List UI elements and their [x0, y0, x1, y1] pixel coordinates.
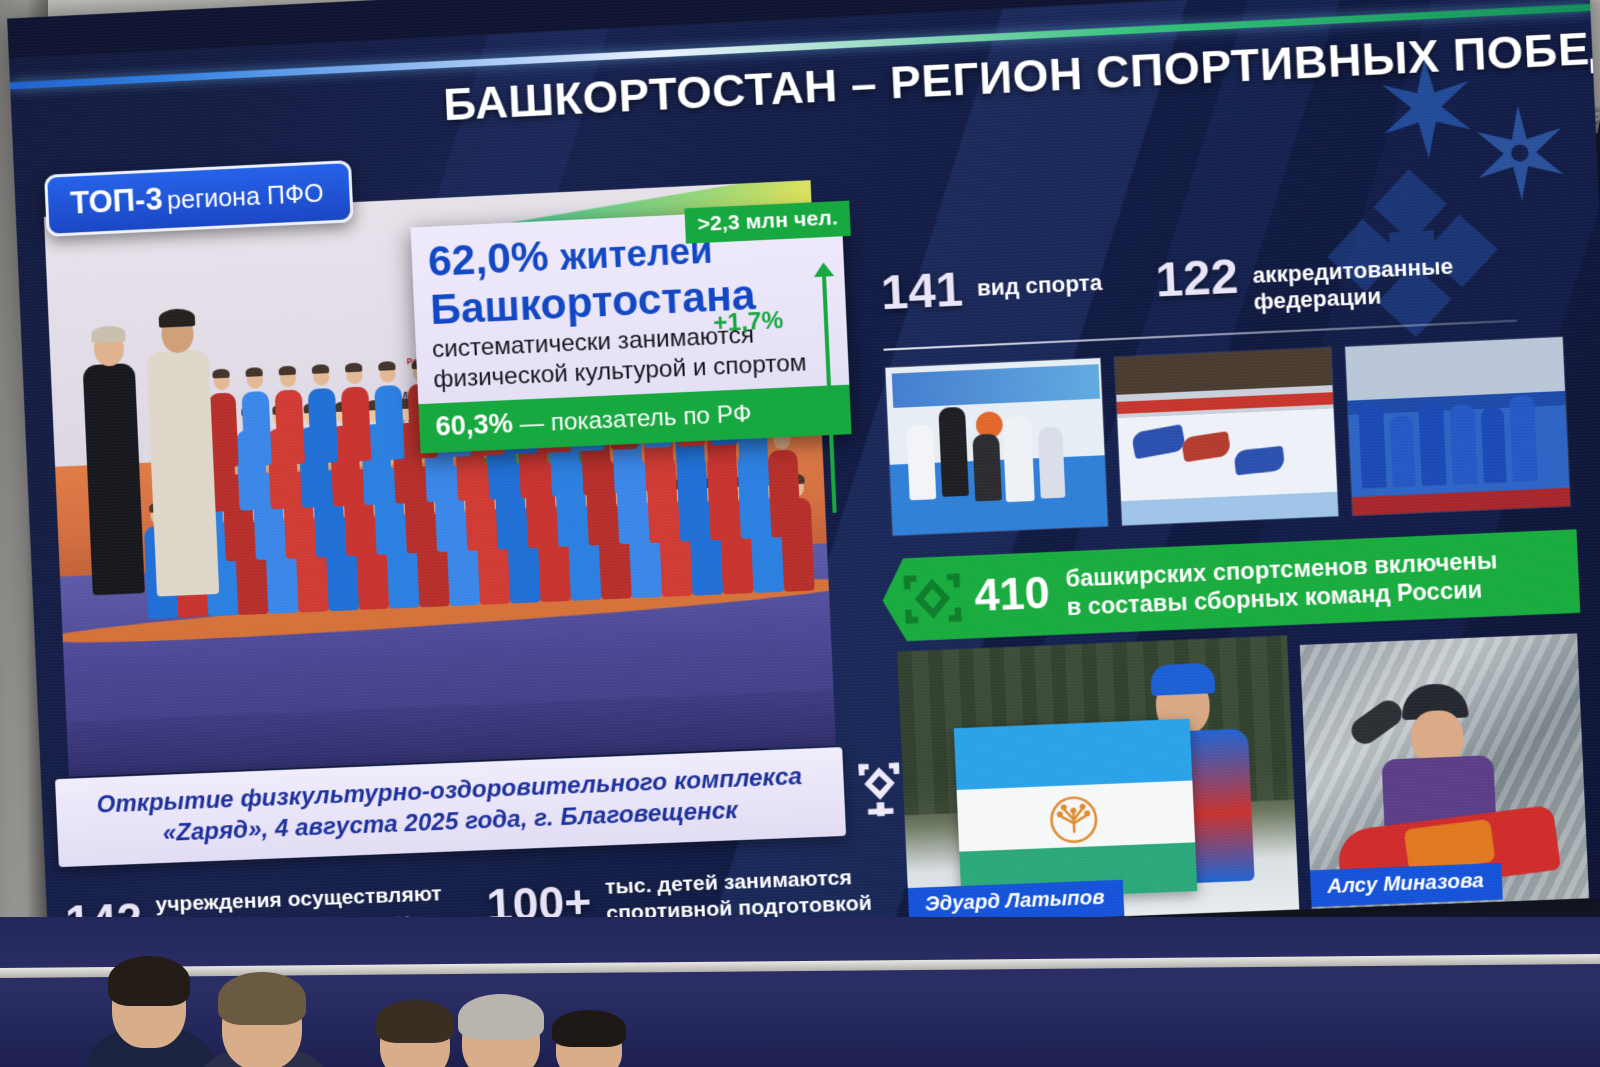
stat-value: 122: [1155, 253, 1240, 305]
slide: БАШКОРТОСТАН – РЕГИОН СПОРТИВНЫХ ПОБЕД: [9, 0, 1600, 958]
stat-label: аккредитованные федерации: [1251, 243, 1455, 315]
growth-value: +1,7%: [713, 307, 784, 338]
judo-team-photo: [1344, 336, 1571, 517]
bashkir-diamond-ornament-icon: [900, 566, 966, 631]
headline-percent: 62,0%: [427, 232, 549, 285]
top3-badge-bold: ТОП-3: [70, 181, 164, 220]
athlete-name-tag: Алсу Миназова: [1310, 863, 1503, 907]
sport-thumbnails: [884, 336, 1571, 537]
top3-badge-label: региона ПФО: [167, 179, 325, 215]
biathlete-photo: Эдуард Латыпов: [897, 635, 1300, 934]
stat-value: 141: [880, 266, 964, 318]
participation-stats-panel: >2,3 млн чел. 62,0% жителей Башкортостан…: [410, 207, 851, 453]
banner-value: 410: [973, 568, 1050, 622]
banner-label: башкирских спортсменов включены в состав…: [1065, 546, 1499, 621]
kurai-flower-emblem-icon: [1047, 793, 1101, 846]
stat-label: вид спорта: [976, 260, 1103, 302]
stat-label-line1: вид спорта: [977, 270, 1103, 302]
led-screen: БАШКОРТОСТАН – РЕГИОН СПОРТИВНЫХ ПОБЕД: [7, 0, 1600, 958]
presentation-room-photo: БАШКОРТОСТАН – РЕГИОН СПОРТИВНЫХ ПОБЕД: [0, 0, 1600, 1067]
basketball-photo: [884, 357, 1109, 537]
benchmark-label: — показатель по РФ: [519, 400, 752, 438]
ice-speedway-photo: [1114, 346, 1340, 526]
stat-sport-types: 141 вид спорта: [880, 260, 1104, 319]
kayaker-photo: Алсу Миназова: [1300, 633, 1590, 917]
benchmark-value: 60,3%: [435, 408, 514, 442]
